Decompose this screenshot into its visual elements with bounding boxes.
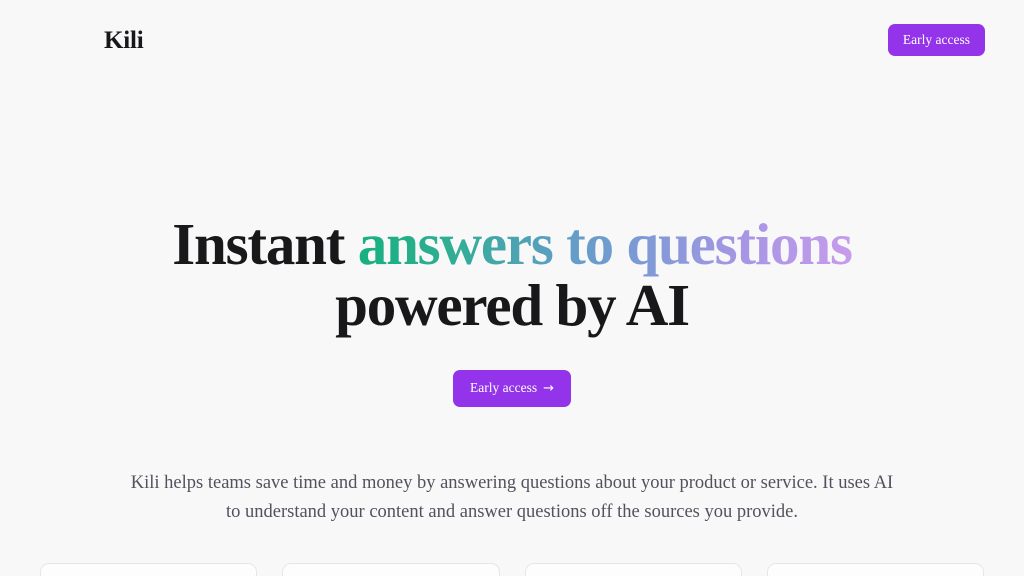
hero-early-access-button[interactable]: Early access → [453,370,571,407]
page-title: Instant answers to questions powered by … [0,214,1024,336]
feature-card[interactable] [40,563,257,576]
headline-line-2: powered by AI [0,275,1024,336]
feature-cards-strip [40,563,984,576]
header-early-access-label: Early access [903,33,970,48]
site-header: Kili Early access [0,0,1024,80]
feature-card[interactable] [282,563,499,576]
arrow-right-icon: → [543,382,554,395]
headline-gradient-text: answers to questions [358,211,852,277]
brand-logo[interactable]: Kili [104,28,143,53]
hero-section: Instant answers to questions powered by … [0,80,1024,527]
hero-early-access-label: Early access [470,381,537,396]
header-early-access-button[interactable]: Early access [888,24,985,57]
headline-line-1: Instant answers to questions [0,214,1024,275]
feature-card[interactable] [767,563,984,576]
landing-page: Kili Early access Instant answers to que… [0,0,1024,576]
hero-description: Kili helps teams save time and money by … [128,469,896,527]
feature-card[interactable] [525,563,742,576]
hero-cta-container: Early access → [0,370,1024,407]
headline-dark-text: Instant [172,211,358,277]
